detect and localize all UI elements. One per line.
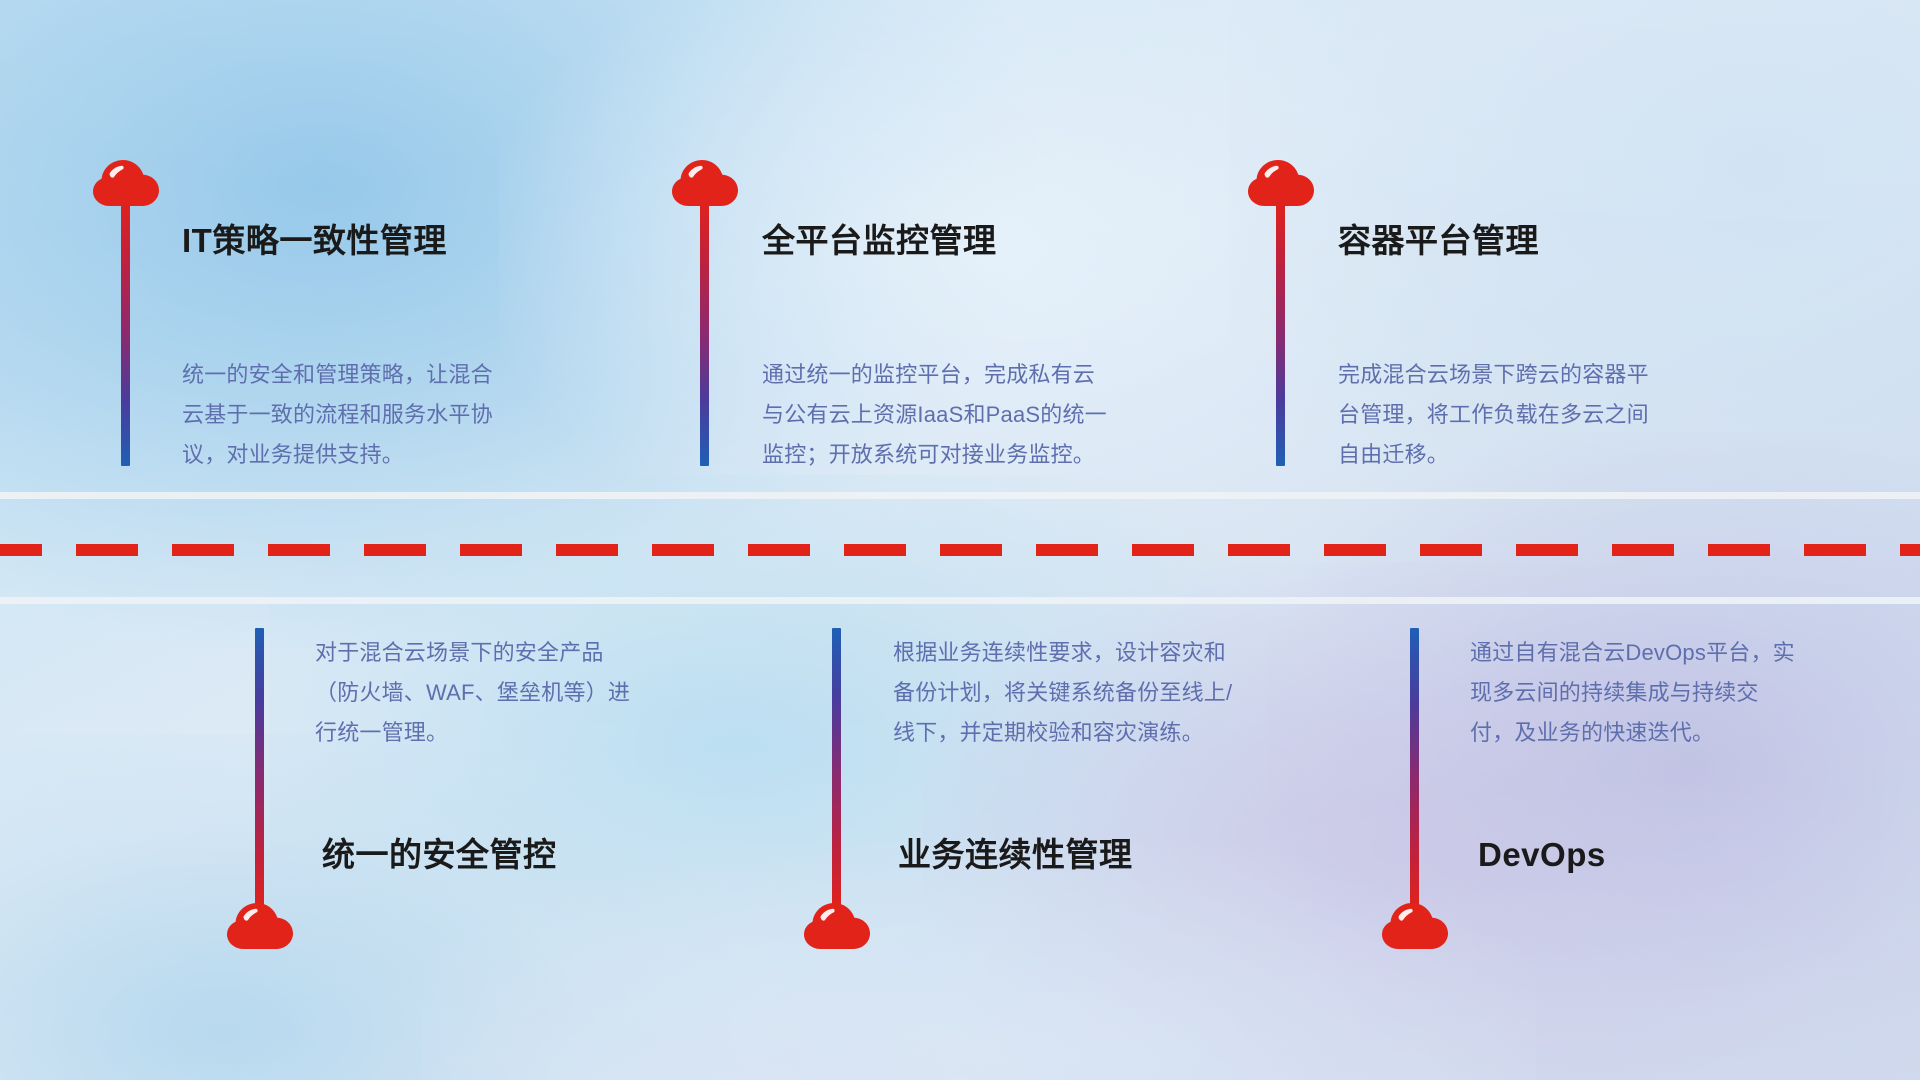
dash-segment	[76, 544, 138, 556]
dash-segment	[268, 544, 330, 556]
item-description: 对于混合云场景下的安全产品（防火墙、WAF、堡垒机等）进行统一管理。	[315, 633, 645, 753]
dash-segment	[1612, 544, 1674, 556]
dash-segment	[1804, 544, 1866, 556]
accent-bar	[832, 628, 841, 913]
dash-segment	[1516, 544, 1578, 556]
dash-segment	[1420, 544, 1482, 556]
item-title: IT策略一致性管理	[182, 224, 447, 257]
accent-bar	[700, 196, 709, 466]
dash-segment	[652, 544, 714, 556]
cloud-icon	[1382, 903, 1448, 951]
dash-segment	[460, 544, 522, 556]
item-title: 全平台监控管理	[762, 224, 997, 257]
dash-segment	[940, 544, 1002, 556]
item-title: DevOps	[1478, 838, 1606, 871]
dash-segment	[1900, 544, 1920, 556]
accent-bar	[1410, 628, 1419, 913]
item-title: 容器平台管理	[1338, 224, 1539, 257]
item-description: 根据业务连续性要求，设计容灾和备份计划，将关键系统备份至线上/线下，并定期校验和…	[893, 633, 1238, 753]
divider-line-bottom	[0, 597, 1920, 604]
dash-segment	[748, 544, 810, 556]
dash-segment	[1036, 544, 1098, 556]
dash-segment	[1132, 544, 1194, 556]
infographic-canvas: IT策略一致性管理 统一的安全和管理策略，让混合云基于一致的流程和服务水平协议，…	[0, 0, 1920, 1080]
cloud-icon	[804, 903, 870, 951]
dash-segment	[1708, 544, 1770, 556]
dash-segment	[172, 544, 234, 556]
dash-segment	[364, 544, 426, 556]
accent-bar	[1276, 196, 1285, 466]
item-title: 统一的安全管控	[322, 838, 557, 871]
item-description: 完成混合云场景下跨云的容器平台管理，将工作负载在多云之间自由迁移。	[1338, 355, 1668, 475]
dash-segment	[844, 544, 906, 556]
accent-bar	[255, 628, 264, 913]
dash-segment	[556, 544, 618, 556]
divider-line-top	[0, 492, 1920, 499]
item-description: 通过自有混合云DevOps平台，实现多云间的持续集成与持续交付，及业务的快速迭代…	[1470, 633, 1800, 753]
dash-segment	[1228, 544, 1290, 556]
dash-segment	[1324, 544, 1386, 556]
item-description: 统一的安全和管理策略，让混合云基于一致的流程和服务水平协议，对业务提供支持。	[182, 355, 512, 475]
cloud-icon	[227, 903, 293, 951]
item-description: 通过统一的监控平台，完成私有云与公有云上资源IaaS和PaaS的统一监控；开放系…	[762, 355, 1107, 475]
item-title: 业务连续性管理	[898, 838, 1133, 871]
dash-segment	[0, 544, 42, 556]
dashed-divider	[0, 544, 1920, 556]
accent-bar	[121, 196, 130, 466]
